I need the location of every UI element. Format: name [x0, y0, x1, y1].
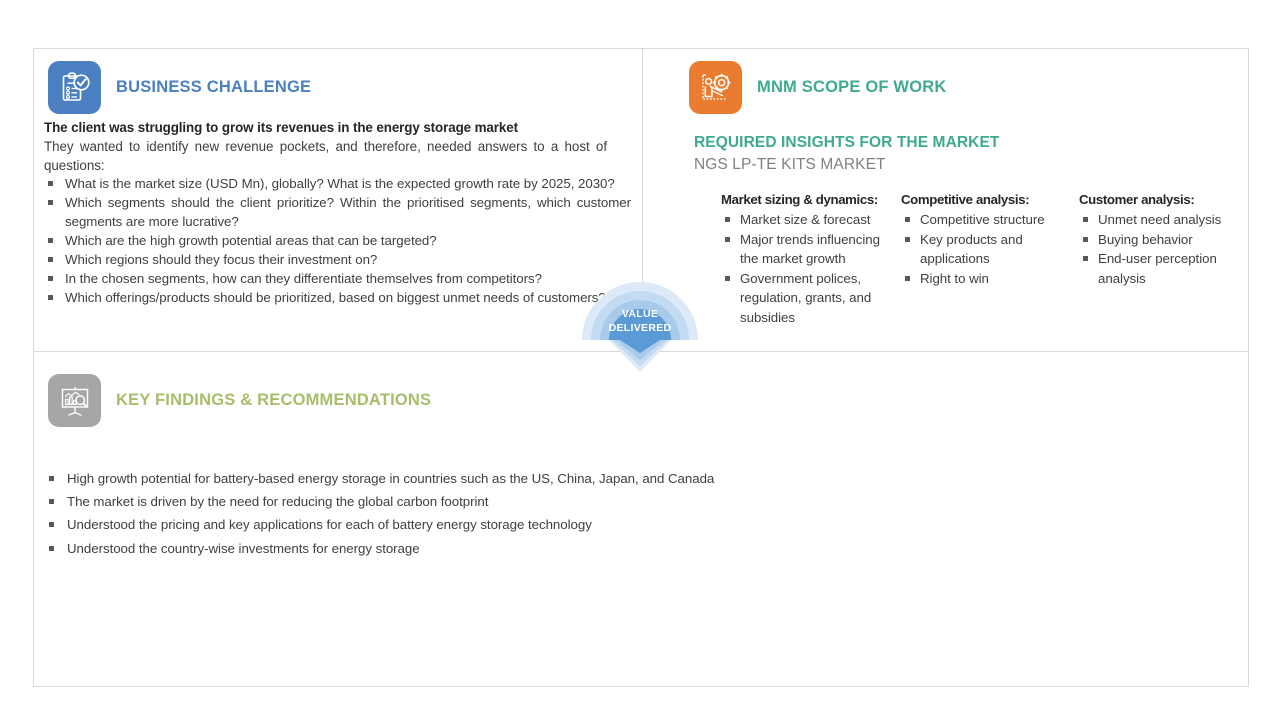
mnm-scope-title: MNM SCOPE OF WORK — [757, 78, 946, 97]
business-challenge-lead-text: They wanted to identify new revenue pock… — [44, 137, 607, 175]
list-item: Unmet need analysis — [1079, 210, 1254, 230]
clipboard-check-icon — [48, 61, 101, 114]
business-challenge-lead: The client was struggling to grow its re… — [44, 119, 629, 175]
market-name-label: NGS LP-TE KITS MARKET — [694, 154, 999, 176]
column-list: Market size & forecast Major trends infl… — [721, 210, 901, 327]
list-item: Right to win — [901, 269, 1079, 289]
panel-business-challenge: BUSINESS CHALLENGE The client was strugg… — [34, 49, 642, 351]
list-item: In the chosen segments, how can they dif… — [44, 269, 631, 288]
column-heading: Competitive analysis: — [901, 191, 1079, 209]
list-item: Which are the high growth potential area… — [44, 231, 631, 250]
value-delivered-badge: VALUE DELIVERED — [578, 278, 702, 374]
column-list: Unmet need analysis Buying behavior End-… — [1079, 210, 1254, 288]
list-item: The market is driven by the need for red… — [44, 490, 1144, 513]
list-item: Which segments should the client priorit… — [44, 193, 631, 231]
business-challenge-title: BUSINESS CHALLENGE — [116, 78, 311, 97]
key-findings-header: KEY FINDINGS & RECOMMENDATIONS — [48, 374, 431, 427]
key-findings-title: KEY FINDINGS & RECOMMENDATIONS — [116, 391, 431, 410]
list-item: Which regions should they focus their in… — [44, 250, 631, 269]
panel-key-findings: KEY FINDINGS & RECOMMENDATIONS High grow… — [34, 352, 1248, 687]
list-item: What is the market size (USD Mn), global… — [44, 174, 631, 193]
column-list: Competitive structure Key products and a… — [901, 210, 1079, 288]
mnm-column-customer-analysis: Customer analysis: Unmet need analysis B… — [1079, 191, 1254, 327]
list-item: Competitive structure — [901, 210, 1079, 230]
required-insights-heading: REQUIRED INSIGHTS FOR THE MARKET — [694, 132, 999, 154]
business-challenge-question-list: What is the market size (USD Mn), global… — [44, 174, 631, 307]
list-item: Understood the pricing and key applicati… — [44, 513, 1144, 536]
mnm-column-competitive-analysis: Competitive analysis: Competitive struct… — [901, 191, 1079, 327]
business-challenge-header: BUSINESS CHALLENGE — [48, 61, 311, 114]
column-heading: Customer analysis: — [1079, 191, 1254, 209]
business-challenge-lead-bold: The client was struggling to grow its re… — [44, 119, 629, 137]
mnm-column-market-sizing: Market sizing & dynamics: Market size & … — [721, 191, 901, 327]
list-item: Market size & forecast — [721, 210, 901, 230]
person-gear-icon — [689, 61, 742, 114]
list-item: High growth potential for battery-based … — [44, 467, 1144, 490]
list-item: Buying behavior — [1079, 230, 1254, 250]
list-item: Key products and applications — [901, 230, 1079, 269]
list-item: Major trends influencing the market grow… — [721, 230, 901, 269]
list-item: Which offerings/products should be prior… — [44, 288, 631, 307]
panel-mnm-scope-of-work: MNM SCOPE OF WORK REQUIRED INSIGHTS FOR … — [643, 49, 1248, 351]
column-heading: Market sizing & dynamics: — [721, 191, 901, 209]
key-findings-list: High growth potential for battery-based … — [44, 467, 1144, 560]
mnm-scope-header: MNM SCOPE OF WORK — [689, 61, 946, 114]
list-item: Understood the country-wise investments … — [44, 537, 1144, 560]
mnm-subtitle-block: REQUIRED INSIGHTS FOR THE MARKET NGS LP-… — [694, 132, 999, 176]
list-item: Government polices, regulation, grants, … — [721, 269, 901, 328]
mnm-scope-columns: Market sizing & dynamics: Market size & … — [721, 191, 1254, 327]
list-item: End-user perception analysis — [1079, 249, 1254, 288]
chart-board-search-icon — [48, 374, 101, 427]
